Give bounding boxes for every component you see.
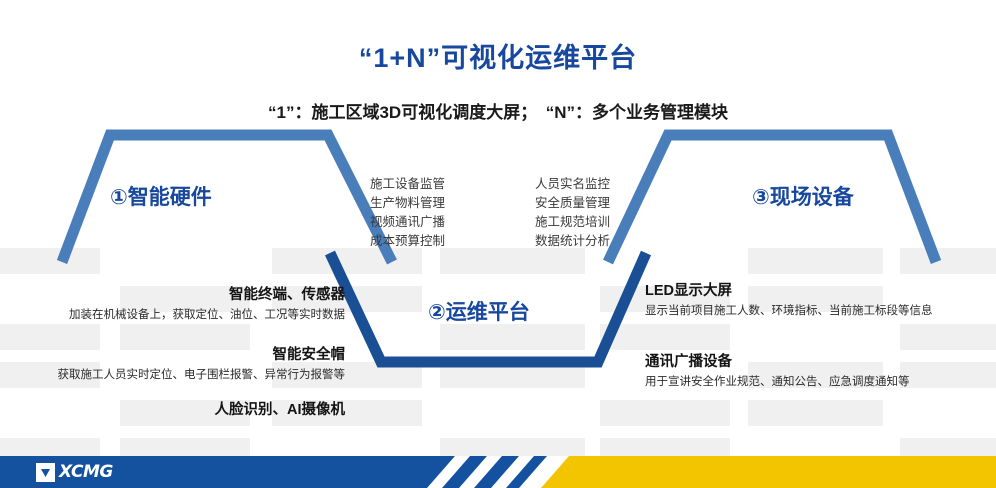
detail-block-smart-terminal: 智能终端、传感器 加装在机械设备上，获取定位、油位、工况等实时数据 bbox=[69, 283, 345, 324]
section-heading-ops-platform: ②运维平台 bbox=[428, 296, 530, 326]
detail-block-broadcast-equipment: 通讯广播设备 用于宣讲安全作业规范、通知公告、应急调度通知等 bbox=[645, 350, 945, 391]
module-item: 数据统计分析 bbox=[535, 232, 610, 251]
page-title: “1+N”可视化运维平台 bbox=[0, 36, 996, 75]
module-item: 安全质量管理 bbox=[535, 194, 610, 213]
slide-canvas: “1+N”可视化运维平台 “1”：施工区域3D可视化调度大屏； “N”：多个业务… bbox=[0, 0, 996, 488]
detail-block-desc: 显示当前项目施工人数、环境指标、当前施工标段等信息 bbox=[645, 303, 945, 320]
module-item: 成本预算控制 bbox=[370, 232, 445, 251]
detail-block-title: 智能终端、传感器 bbox=[69, 283, 345, 304]
detail-block-title: 智能安全帽 bbox=[58, 343, 346, 364]
footer-stripe-graphic bbox=[0, 456, 996, 488]
module-item: 人员实名监控 bbox=[535, 175, 610, 194]
triangle-in-square-icon bbox=[36, 463, 55, 482]
xcmg-logo-text: XCMG bbox=[59, 464, 113, 481]
module-list: 施工设备监管 生产物料管理 视频通讯广播 成本预算控制 人员实名监控 安全质量管… bbox=[370, 175, 610, 251]
detail-block-smart-helmet: 智能安全帽 获取施工人员实时定位、电子围栏报警、异常行为报警等 bbox=[58, 343, 346, 384]
module-item: 生产物料管理 bbox=[370, 194, 445, 213]
xcmg-logo: XCMG bbox=[36, 461, 113, 483]
detail-block-led-screen: LED显示大屏 显示当前项目施工人数、环境指标、当前施工标段等信息 bbox=[645, 279, 945, 320]
detail-block-face-recognition: 人脸识别、AI摄像机 bbox=[215, 398, 346, 419]
detail-block-title: 通讯广播设备 bbox=[645, 350, 945, 371]
detail-block-title: 人脸识别、AI摄像机 bbox=[215, 398, 346, 419]
detail-block-desc: 获取施工人员实时定位、电子围栏报警、异常行为报警等 bbox=[58, 367, 346, 384]
module-item: 施工规范培训 bbox=[535, 213, 610, 232]
module-column-1: 施工设备监管 生产物料管理 视频通讯广播 成本预算控制 bbox=[370, 175, 445, 251]
section-heading-smart-hardware: ①智能硬件 bbox=[110, 181, 212, 211]
module-item: 视频通讯广播 bbox=[370, 213, 445, 232]
section-heading-site-equipment: ③现场设备 bbox=[752, 181, 854, 211]
detail-block-desc: 用于宣讲安全作业规范、通知公告、应急调度通知等 bbox=[645, 374, 945, 391]
detail-block-title: LED显示大屏 bbox=[645, 279, 945, 300]
module-column-2: 人员实名监控 安全质量管理 施工规范培训 数据统计分析 bbox=[535, 175, 610, 251]
footer-bar: XCMG bbox=[0, 456, 996, 488]
detail-block-desc: 加装在机械设备上，获取定位、油位、工况等实时数据 bbox=[69, 307, 345, 324]
module-item: 施工设备监管 bbox=[370, 175, 445, 194]
page-subtitle: “1”：施工区域3D可视化调度大屏； “N”：多个业务管理模块 bbox=[198, 99, 798, 127]
